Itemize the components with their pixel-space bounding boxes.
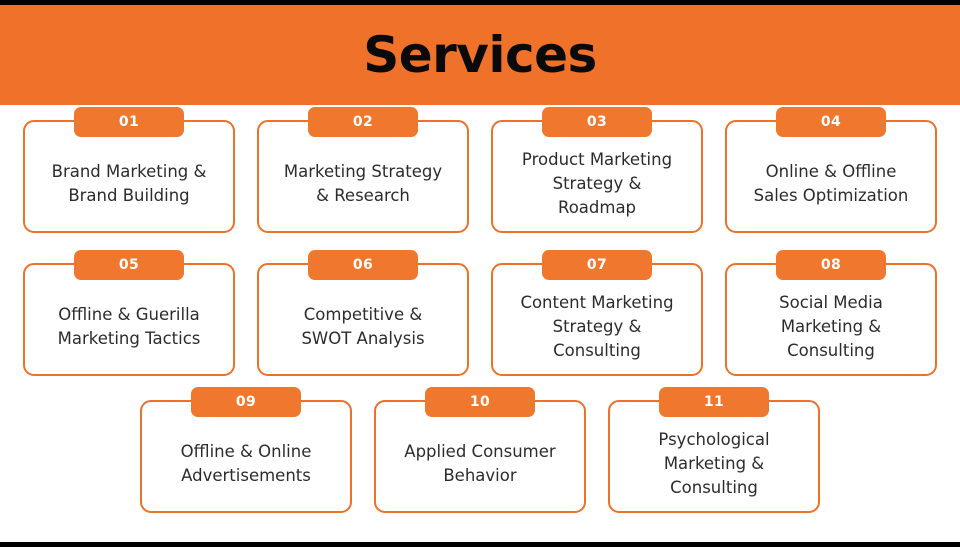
services-cards-area: 01 Brand Marketing & Brand Building 02 M…	[0, 105, 960, 542]
service-card-label-08: Social Media Marketing & Consulting	[735, 291, 927, 363]
service-card-label-04: Online & Offline Sales Optimization	[735, 160, 927, 208]
page-title: Services	[363, 30, 597, 80]
services-slide: Services 01 Brand Marketing & Brand Buil…	[0, 0, 960, 547]
service-number-badge-02: 02	[308, 107, 418, 137]
service-card-label-09: Offline & Online Advertisements	[150, 440, 342, 488]
service-number-badge-08: 08	[776, 250, 886, 280]
service-card-09[interactable]: 09 Offline & Online Advertisements	[140, 400, 352, 513]
service-number-badge-07: 07	[542, 250, 652, 280]
service-card-label-01: Brand Marketing & Brand Building	[33, 160, 225, 208]
service-number-badge-09: 09	[191, 387, 301, 417]
service-card-label-05: Offline & Guerilla Marketing Tactics	[33, 303, 225, 351]
service-number-badge-03: 03	[542, 107, 652, 137]
service-card-label-10: Applied Consumer Behavior	[384, 440, 576, 488]
service-card-label-02: Marketing Strategy & Research	[267, 160, 459, 208]
service-card-05[interactable]: 05 Offline & Guerilla Marketing Tactics	[23, 263, 235, 376]
service-card-01[interactable]: 01 Brand Marketing & Brand Building	[23, 120, 235, 233]
service-card-02[interactable]: 02 Marketing Strategy & Research	[257, 120, 469, 233]
service-card-04[interactable]: 04 Online & Offline Sales Optimization	[725, 120, 937, 233]
service-card-10[interactable]: 10 Applied Consumer Behavior	[374, 400, 586, 513]
service-number-badge-05: 05	[74, 250, 184, 280]
service-card-label-07: Content Marketing Strategy & Consulting	[501, 291, 693, 363]
service-card-label-06: Competitive & SWOT Analysis	[267, 303, 459, 351]
service-card-08[interactable]: 08 Social Media Marketing & Consulting	[725, 263, 937, 376]
bottom-edge-bar	[0, 542, 960, 547]
service-card-06[interactable]: 06 Competitive & SWOT Analysis	[257, 263, 469, 376]
service-card-row-2: 05 Offline & Guerilla Marketing Tactics …	[0, 263, 960, 376]
service-card-label-11: Psychological Marketing & Consulting	[618, 428, 810, 500]
service-card-03[interactable]: 03 Product Marketing Strategy & Roadmap	[491, 120, 703, 233]
service-number-badge-01: 01	[74, 107, 184, 137]
service-number-badge-04: 04	[776, 107, 886, 137]
service-card-row-3: 09 Offline & Online Advertisements 10 Ap…	[0, 400, 960, 513]
service-card-11[interactable]: 11 Psychological Marketing & Consulting	[608, 400, 820, 513]
service-card-row-1: 01 Brand Marketing & Brand Building 02 M…	[0, 120, 960, 233]
service-card-label-03: Product Marketing Strategy & Roadmap	[501, 148, 693, 220]
service-number-badge-11: 11	[659, 387, 769, 417]
service-number-badge-10: 10	[425, 387, 535, 417]
service-card-07[interactable]: 07 Content Marketing Strategy & Consulti…	[491, 263, 703, 376]
service-number-badge-06: 06	[308, 250, 418, 280]
header-band: Services	[0, 5, 960, 105]
